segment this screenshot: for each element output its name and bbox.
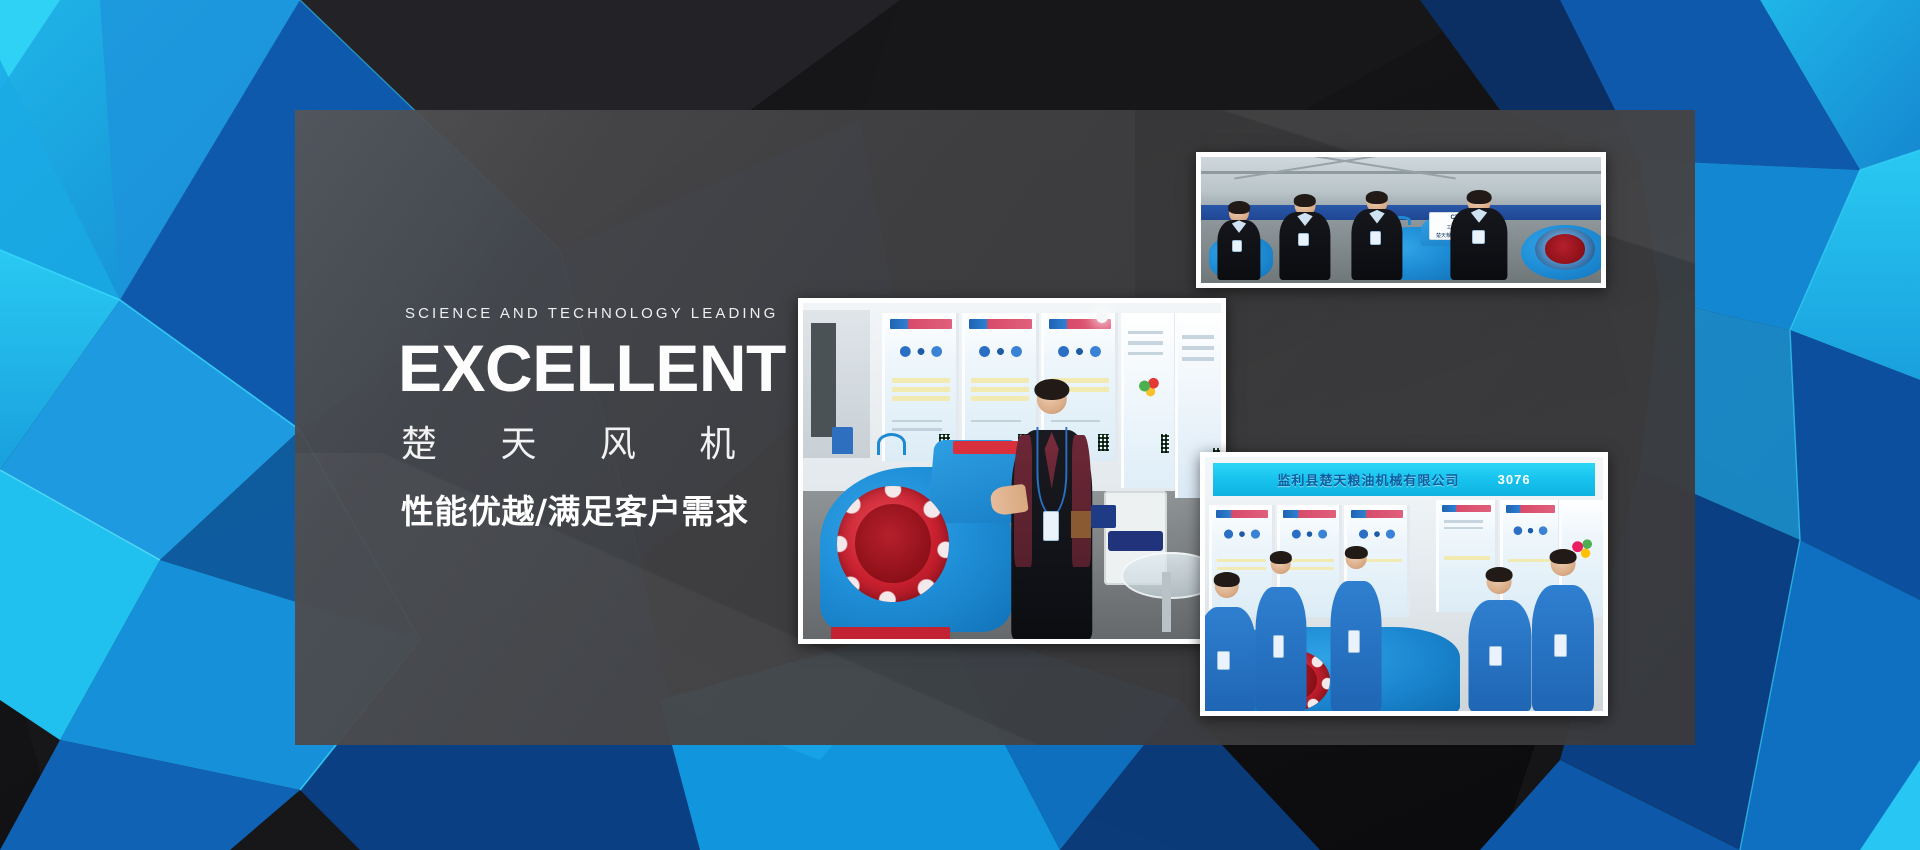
person-head-wrap <box>1229 202 1249 221</box>
person-head-wrap <box>1215 574 1240 610</box>
name-badge <box>1370 231 1382 244</box>
board-header <box>1442 505 1491 513</box>
photo-presenter-with-fan[interactable] <box>798 298 1226 644</box>
axial-fan-top-right <box>1521 217 1601 280</box>
board-product-images <box>1353 522 1401 544</box>
board-text-line <box>1128 331 1163 334</box>
person-polo-2 <box>1261 554 1301 711</box>
person-suit-4 <box>1457 191 1501 280</box>
board-text-line <box>1182 346 1214 350</box>
cardboard-box <box>1071 511 1092 538</box>
banner-stage: SCIENCE AND TECHNOLOGY LEADING EXCELLENT… <box>0 0 1920 850</box>
name-badge <box>1472 230 1485 244</box>
blue-polo <box>1205 607 1255 711</box>
blue-bag <box>1091 505 1116 529</box>
board-table-row <box>892 387 950 392</box>
board-product-images <box>1286 522 1334 544</box>
booth-number-label: 3076 <box>1498 472 1531 487</box>
photo-staff-team-inner: 监利县楚天粮油机械有限公司 3076 <box>1205 457 1603 711</box>
board-product-images <box>1218 522 1266 544</box>
photo-staff-team[interactable]: 监利县楚天粮油机械有限公司 3076 <box>1200 452 1608 716</box>
board-header <box>1216 510 1269 518</box>
board-table-row <box>971 396 1029 401</box>
qr-code-icon <box>1161 434 1169 453</box>
board-table-row <box>892 396 950 401</box>
person-polo-1 <box>1205 574 1249 711</box>
photo-management-team[interactable]: CT 3.5kW 工业离心引风机 楚天粮油机械 (股份) 公司 <box>1196 152 1606 288</box>
photo-presenter-inner <box>803 303 1221 639</box>
hair <box>1550 549 1577 564</box>
person-suit-3 <box>1357 192 1397 280</box>
table-leg <box>1162 572 1170 632</box>
board-text-line <box>1128 352 1163 355</box>
board-text-line <box>1128 341 1163 344</box>
person-polo-5 <box>1539 551 1587 711</box>
board-product-images <box>972 335 1029 365</box>
board-text-line <box>971 420 1021 423</box>
hair <box>1467 190 1492 204</box>
fan-impeller <box>1535 228 1595 271</box>
board-text-line <box>1444 520 1483 522</box>
fan-red-base <box>831 627 950 639</box>
person-suit-1 <box>1221 202 1257 280</box>
name-badge <box>1298 233 1310 246</box>
board-product-images <box>1051 335 1108 365</box>
person-polo-4 <box>1476 569 1524 711</box>
person-head-wrap <box>1346 548 1367 584</box>
hair <box>1366 191 1388 204</box>
person-head-wrap <box>1487 569 1512 603</box>
board-text-line <box>892 428 942 431</box>
board-text-line <box>892 420 942 423</box>
hair <box>1214 572 1240 587</box>
board-product-images <box>893 335 950 365</box>
name-badge <box>1043 511 1059 541</box>
board-table-row <box>1217 567 1266 571</box>
person-head-wrap <box>1367 192 1388 211</box>
photo-management-team-inner: CT 3.5kW 工业离心引风机 楚天粮油机械 (股份) 公司 <box>1201 157 1601 283</box>
qr-code-icon <box>1098 434 1109 450</box>
board-header <box>1351 510 1404 518</box>
exhibition-booth-scene-bottom: 监利县楚天粮油机械有限公司 3076 <box>1205 457 1603 711</box>
person-head-wrap <box>1468 191 1491 210</box>
fan-lifting-hook <box>877 433 906 455</box>
name-badge <box>1232 240 1243 252</box>
person-head-wrap <box>1295 195 1316 214</box>
person-suit-2 <box>1285 195 1325 281</box>
chair-seat <box>1108 531 1163 552</box>
name-badge <box>1217 651 1230 671</box>
inlet-bolt-circle <box>837 486 949 603</box>
board-header <box>1283 510 1336 518</box>
name-badge <box>1273 635 1285 657</box>
hair <box>1345 546 1367 559</box>
board-table-row <box>971 378 1029 383</box>
lanyard <box>1036 427 1067 516</box>
person-polo-3 <box>1336 548 1376 711</box>
board-text-line <box>1182 335 1214 339</box>
hair <box>1034 379 1069 400</box>
map-graphic <box>1134 372 1164 400</box>
roof-truss-3 <box>1234 157 1456 180</box>
name-badge <box>1348 630 1360 653</box>
exhibition-booth-scene <box>803 303 1221 639</box>
board-table-row <box>971 387 1029 392</box>
hair <box>1486 567 1513 582</box>
hall-roof <box>1201 157 1601 207</box>
board-text-line <box>1182 357 1214 361</box>
blue-centrifugal-fan <box>820 444 1012 632</box>
right-sleeve <box>1072 435 1090 568</box>
board-text-line <box>1444 527 1483 529</box>
board-header <box>969 319 1032 329</box>
exhibition-hall-scene-top: CT 3.5kW 工业离心引风机 楚天粮油机械 (股份) 公司 <box>1201 157 1601 283</box>
name-badge <box>1554 634 1567 657</box>
company-banner-bar: 监利县楚天粮油机械有限公司 3076 <box>1213 463 1595 496</box>
board-product-images <box>1508 518 1553 541</box>
company-banner-title: 监利县楚天粮油机械有限公司 <box>1277 470 1459 489</box>
hair <box>1228 201 1250 213</box>
poster-board-4 <box>1121 313 1177 488</box>
board-table-row <box>1444 556 1490 560</box>
hair <box>1269 551 1291 564</box>
board-table-row <box>892 378 950 383</box>
name-badge <box>1489 646 1502 666</box>
hair <box>1294 194 1316 207</box>
person-head-wrap <box>1551 551 1576 588</box>
board-header <box>1506 505 1555 513</box>
person-head-wrap <box>1270 554 1291 590</box>
board-header <box>890 319 953 329</box>
board-table-row <box>1217 559 1266 563</box>
doorway <box>811 323 836 437</box>
